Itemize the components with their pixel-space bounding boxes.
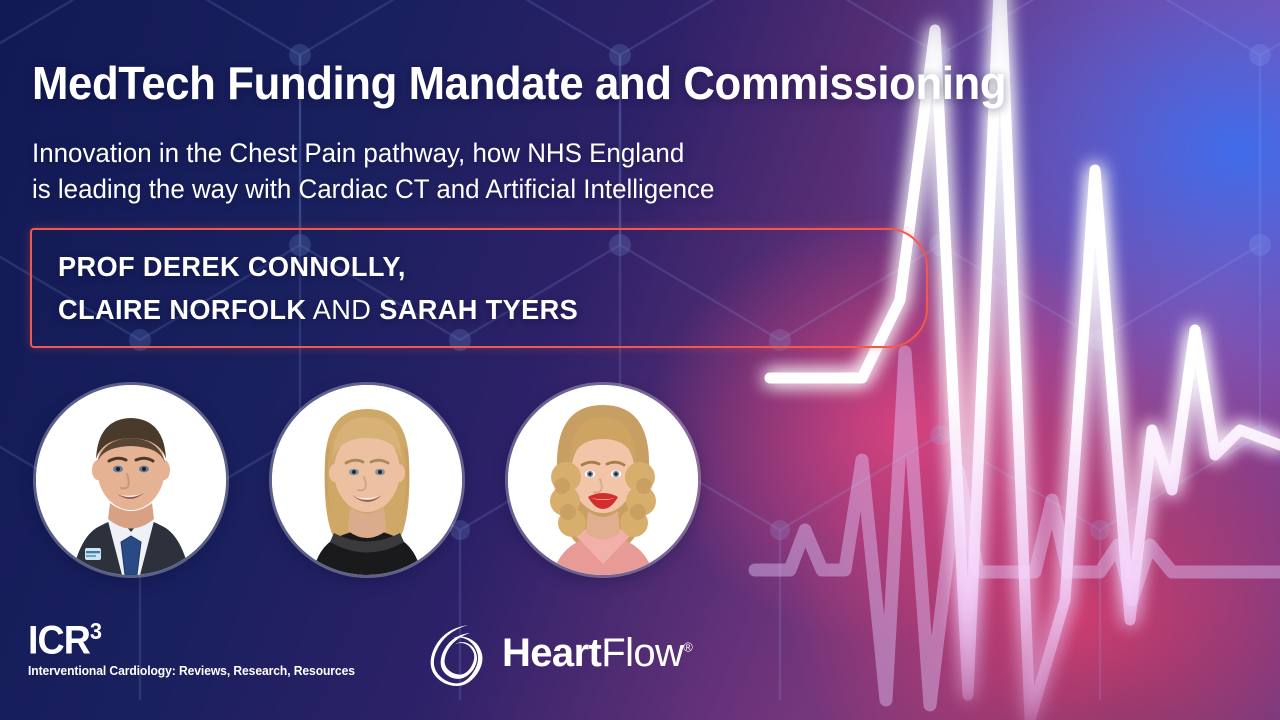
heartflow-heart-text: Heart	[502, 631, 601, 675]
speaker-photo-prof-derek-connolly	[36, 385, 226, 575]
slide-title: MedTech Funding Mandate and Commissionin…	[32, 56, 1153, 110]
slide-subtitle: Innovation in the Chest Pain pathway, ho…	[32, 135, 954, 207]
speaker-name-claire-norfolk: CLAIRE NORFOLK	[58, 294, 306, 325]
speaker-photo-sarah-tyers	[508, 385, 698, 575]
speaker-names: PROF DEREK CONNOLLY, CLAIRE NORFOLK AND …	[58, 245, 578, 332]
heartflow-flow-text: Flow	[601, 631, 683, 675]
icr3-logo: ICR3 Interventional Cardiology: Reviews,…	[28, 620, 365, 678]
subtitle-line-2: is leading the way with Cardiac CT and A…	[32, 171, 954, 207]
speaker-conjunction: AND	[306, 294, 379, 325]
subtitle-line-1: Innovation in the Chest Pain pathway, ho…	[32, 135, 954, 171]
icr3-wordmark: ICR3	[28, 620, 345, 660]
avatar-claire-norfolk	[272, 385, 462, 575]
icr3-letters: ICR	[28, 618, 90, 662]
avatar-sarah-tyers	[508, 385, 698, 575]
speaker-name-sarah-tyers: SARAH TYERS	[379, 294, 578, 325]
heartflow-logo: HeartFlow®	[428, 620, 692, 686]
speaker-line-1: PROF DEREK CONNOLLY,	[58, 245, 578, 288]
speaker-line-2: CLAIRE NORFOLK AND SARAH TYERS	[58, 288, 578, 331]
presentation-slide: MedTech Funding Mandate and Commissionin…	[0, 0, 1280, 720]
registered-trademark-icon: ®	[683, 640, 692, 655]
speaker-photo-claire-norfolk	[272, 385, 462, 575]
icr3-tagline: Interventional Cardiology: Reviews, Rese…	[28, 664, 355, 678]
icr3-superscript: 3	[90, 618, 102, 644]
avatar-derek-connolly	[36, 385, 226, 575]
heartflow-wordmark: HeartFlow®	[502, 633, 692, 673]
heartflow-heart-icon	[428, 620, 490, 686]
